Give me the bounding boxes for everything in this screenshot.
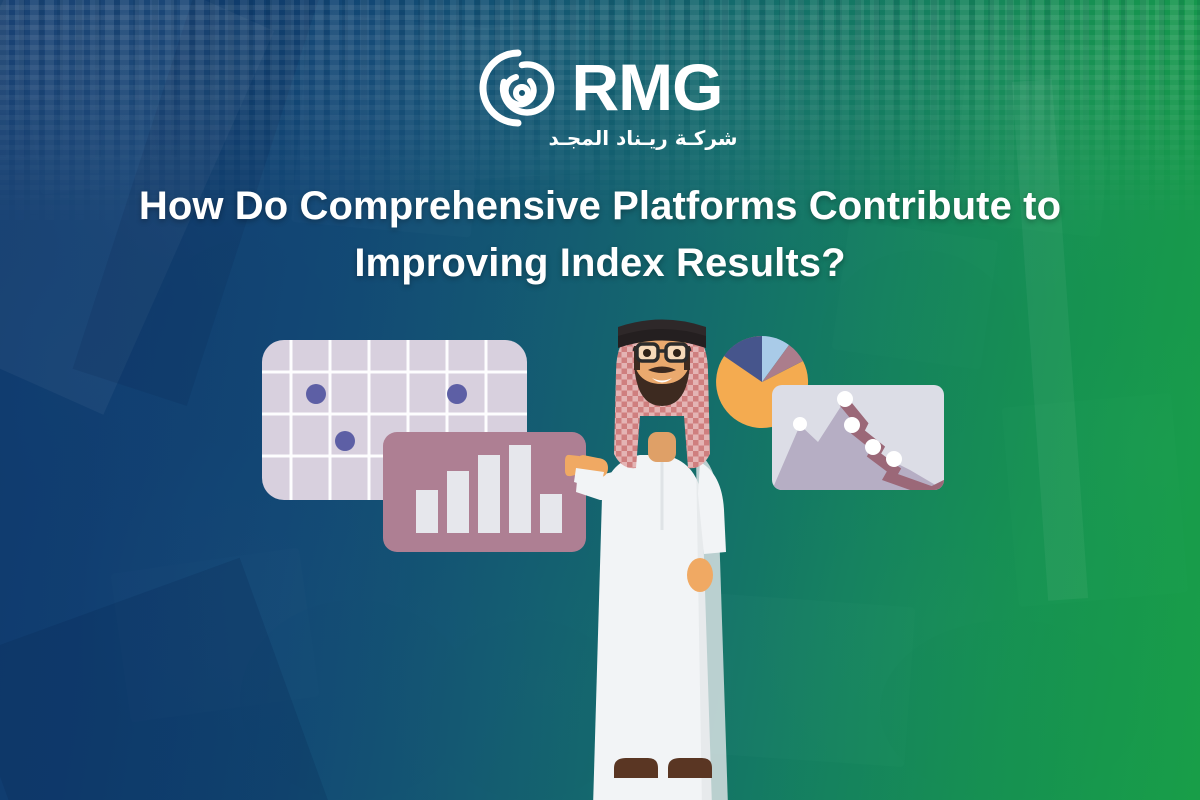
page-title: How Do Comprehensive Platforms Contribut… <box>90 178 1110 292</box>
logo-wordmark: RMG <box>572 58 723 117</box>
hero-banner: RMG شركـة ريـناد المجـد How Do Comprehen… <box>0 0 1200 800</box>
headline-line-1: How Do Comprehensive Platforms Contribut… <box>139 184 1061 228</box>
logo-row: RMG <box>478 48 723 128</box>
brand-logo: RMG شركـة ريـناد المجـد <box>0 48 1200 150</box>
logo-arabic-name: شركـة ريـناد المجـد <box>548 126 737 150</box>
headline-line-2: Improving Index Results? <box>354 241 845 285</box>
rmg-spiral-logo-icon <box>478 48 558 128</box>
